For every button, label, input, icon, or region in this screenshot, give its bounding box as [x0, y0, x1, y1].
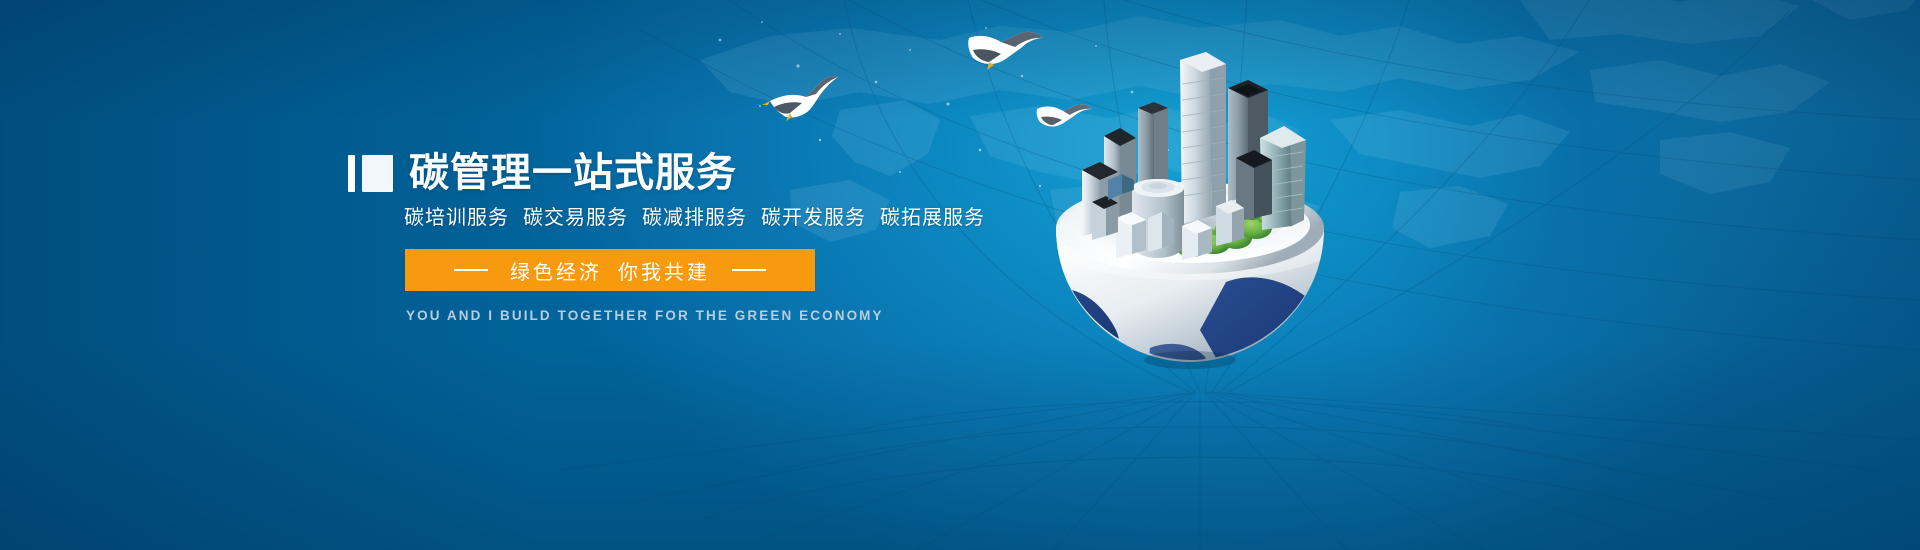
headline-block: 碳管理一站式服务 碳培训服务碳交易服务碳减排服务碳开发服务碳拓展服务 绿色经济你…: [348, 150, 1108, 323]
service-item-2: 碳减排服务: [642, 207, 747, 229]
slogan-dash-right: [732, 269, 766, 271]
service-item-1: 碳交易服务: [523, 207, 628, 229]
seagull-left-icon: [760, 55, 846, 125]
page-title: 碳管理一站式服务: [409, 151, 737, 195]
service-item-4: 碳拓展服务: [880, 207, 985, 229]
slogan-text: 绿色经济你我共建: [510, 256, 710, 285]
hero-banner: 碳管理一站式服务 碳培训服务碳交易服务碳减排服务碳开发服务碳拓展服务 绿色经济你…: [0, 0, 1920, 550]
logo-mark-icon: [348, 155, 393, 192]
service-item-3: 碳开发服务: [761, 207, 866, 229]
logo-bar-shape: [348, 155, 355, 192]
logo-square-shape: [362, 155, 393, 192]
slogan-text-1: 绿色经济: [510, 262, 602, 284]
slogan-banner: 绿色经济你我共建: [405, 249, 815, 291]
service-item-0: 碳培训服务: [404, 207, 509, 229]
slogan-text-2: 你我共建: [618, 262, 710, 284]
slogan-dash-left: [454, 269, 488, 271]
english-tagline: YOU AND I BUILD TOGETHER FOR THE GREEN E…: [406, 308, 1108, 323]
title-row: 碳管理一站式服务: [348, 150, 1108, 196]
service-list: 碳培训服务碳交易服务碳减排服务碳开发服务碳拓展服务: [404, 205, 1108, 231]
